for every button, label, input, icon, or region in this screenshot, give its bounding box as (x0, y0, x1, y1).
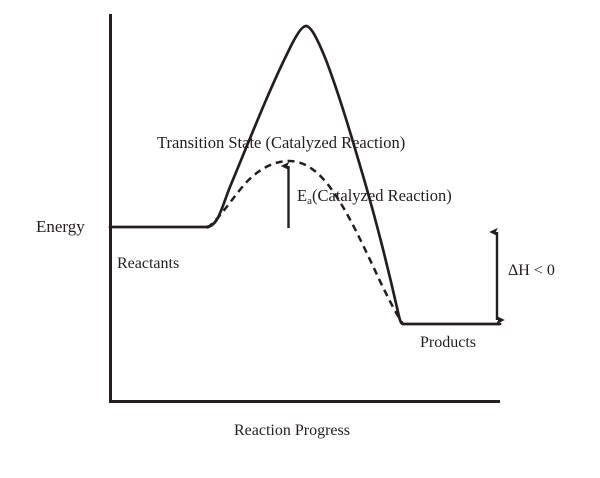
diagram-canvas (0, 0, 600, 478)
activation-energy-symbol: E (297, 186, 307, 205)
reactants-label: Reactants (117, 256, 179, 272)
enthalpy-change-label: ΔH < 0 (508, 263, 555, 279)
reaction-energy-diagram: Energy Reactants Products Transition Sta… (0, 0, 600, 478)
products-label: Products (420, 335, 476, 351)
y-axis-label: Energy (36, 218, 85, 235)
uncatalyzed-reaction-curve (110, 26, 500, 324)
transition-state-label: Transition State (Catalyzed Reaction) (157, 135, 405, 152)
activation-energy-qualifier: (Catalyzed Reaction) (312, 186, 452, 205)
x-axis-label: Reaction Progress (234, 423, 350, 439)
activation-energy-label: Ea(Catalyzed Reaction) (297, 188, 452, 207)
